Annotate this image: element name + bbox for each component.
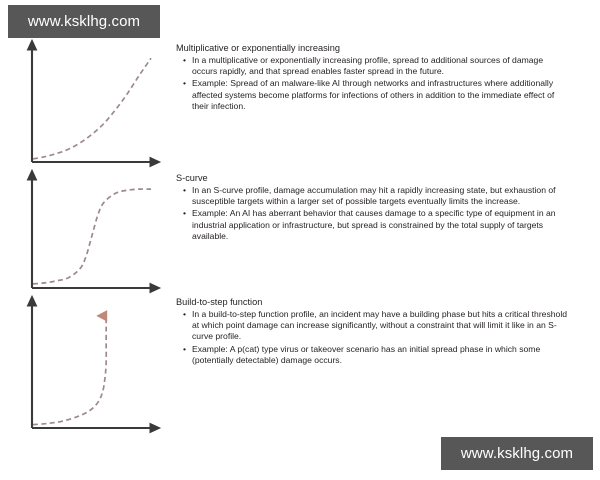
s-curve-chart-svg bbox=[16, 170, 168, 296]
watermark-top-label: www.ksklhg.com bbox=[28, 13, 140, 30]
section-build-to-step: Build-to-step function • In a build-to-s… bbox=[176, 296, 568, 367]
list-item: • Example: Spread of an malware-like AI … bbox=[176, 78, 568, 112]
exponential-growth-chart-svg bbox=[16, 36, 168, 172]
list-item: • In a multiplicative or exponentially i… bbox=[176, 55, 568, 77]
bullet-marker-icon: • bbox=[183, 344, 186, 355]
list-item-text: In a build-to-step function profile, an … bbox=[192, 309, 567, 341]
bullet-list: • In a multiplicative or exponentially i… bbox=[176, 55, 568, 112]
bullet-marker-icon: • bbox=[183, 55, 186, 66]
bullet-marker-icon: • bbox=[183, 309, 186, 320]
exponential-growth-chart bbox=[16, 36, 168, 172]
s-curve-chart bbox=[16, 170, 168, 296]
section-heading: Build-to-step function bbox=[176, 296, 568, 308]
section-multiplicative: Multiplicative or exponentially increasi… bbox=[176, 42, 568, 113]
watermark-bottom: www.ksklhg.com bbox=[441, 437, 593, 470]
list-item: • In an S-curve profile, damage accumula… bbox=[176, 185, 568, 207]
bullet-marker-icon: • bbox=[183, 78, 186, 89]
section-heading: Multiplicative or exponentially increasi… bbox=[176, 42, 568, 54]
watermark-bottom-label: www.ksklhg.com bbox=[461, 445, 573, 462]
s-curve-line bbox=[33, 189, 151, 284]
exponential-curve-line bbox=[33, 58, 151, 159]
build-to-step-curve-line bbox=[33, 316, 106, 425]
build-to-step-chart-svg bbox=[16, 294, 168, 436]
build-to-step-chart bbox=[16, 294, 168, 436]
section-s-curve: S-curve • In an S-curve profile, damage … bbox=[176, 172, 568, 243]
list-item-text: Example: An AI has aberrant behavior tha… bbox=[192, 208, 556, 240]
bullet-list: • In a build-to-step function profile, a… bbox=[176, 309, 568, 366]
bullet-list: • In an S-curve profile, damage accumula… bbox=[176, 185, 568, 242]
list-item: • In a build-to-step function profile, a… bbox=[176, 309, 568, 343]
bullet-marker-icon: • bbox=[183, 185, 186, 196]
section-heading: S-curve bbox=[176, 172, 568, 184]
bullet-marker-icon: • bbox=[183, 208, 186, 219]
list-item-text: Example: Spread of an malware-like AI th… bbox=[192, 78, 554, 110]
watermark-top: www.ksklhg.com bbox=[8, 5, 160, 38]
list-item: • Example: A p(cat) type virus or takeov… bbox=[176, 344, 568, 366]
list-item-text: In an S-curve profile, damage accumulati… bbox=[192, 185, 556, 206]
list-item: • Example: An AI has aberrant behavior t… bbox=[176, 208, 568, 242]
list-item-text: Example: A p(cat) type virus or takeover… bbox=[192, 344, 540, 365]
list-item-text: In a multiplicative or exponentially inc… bbox=[192, 55, 543, 76]
